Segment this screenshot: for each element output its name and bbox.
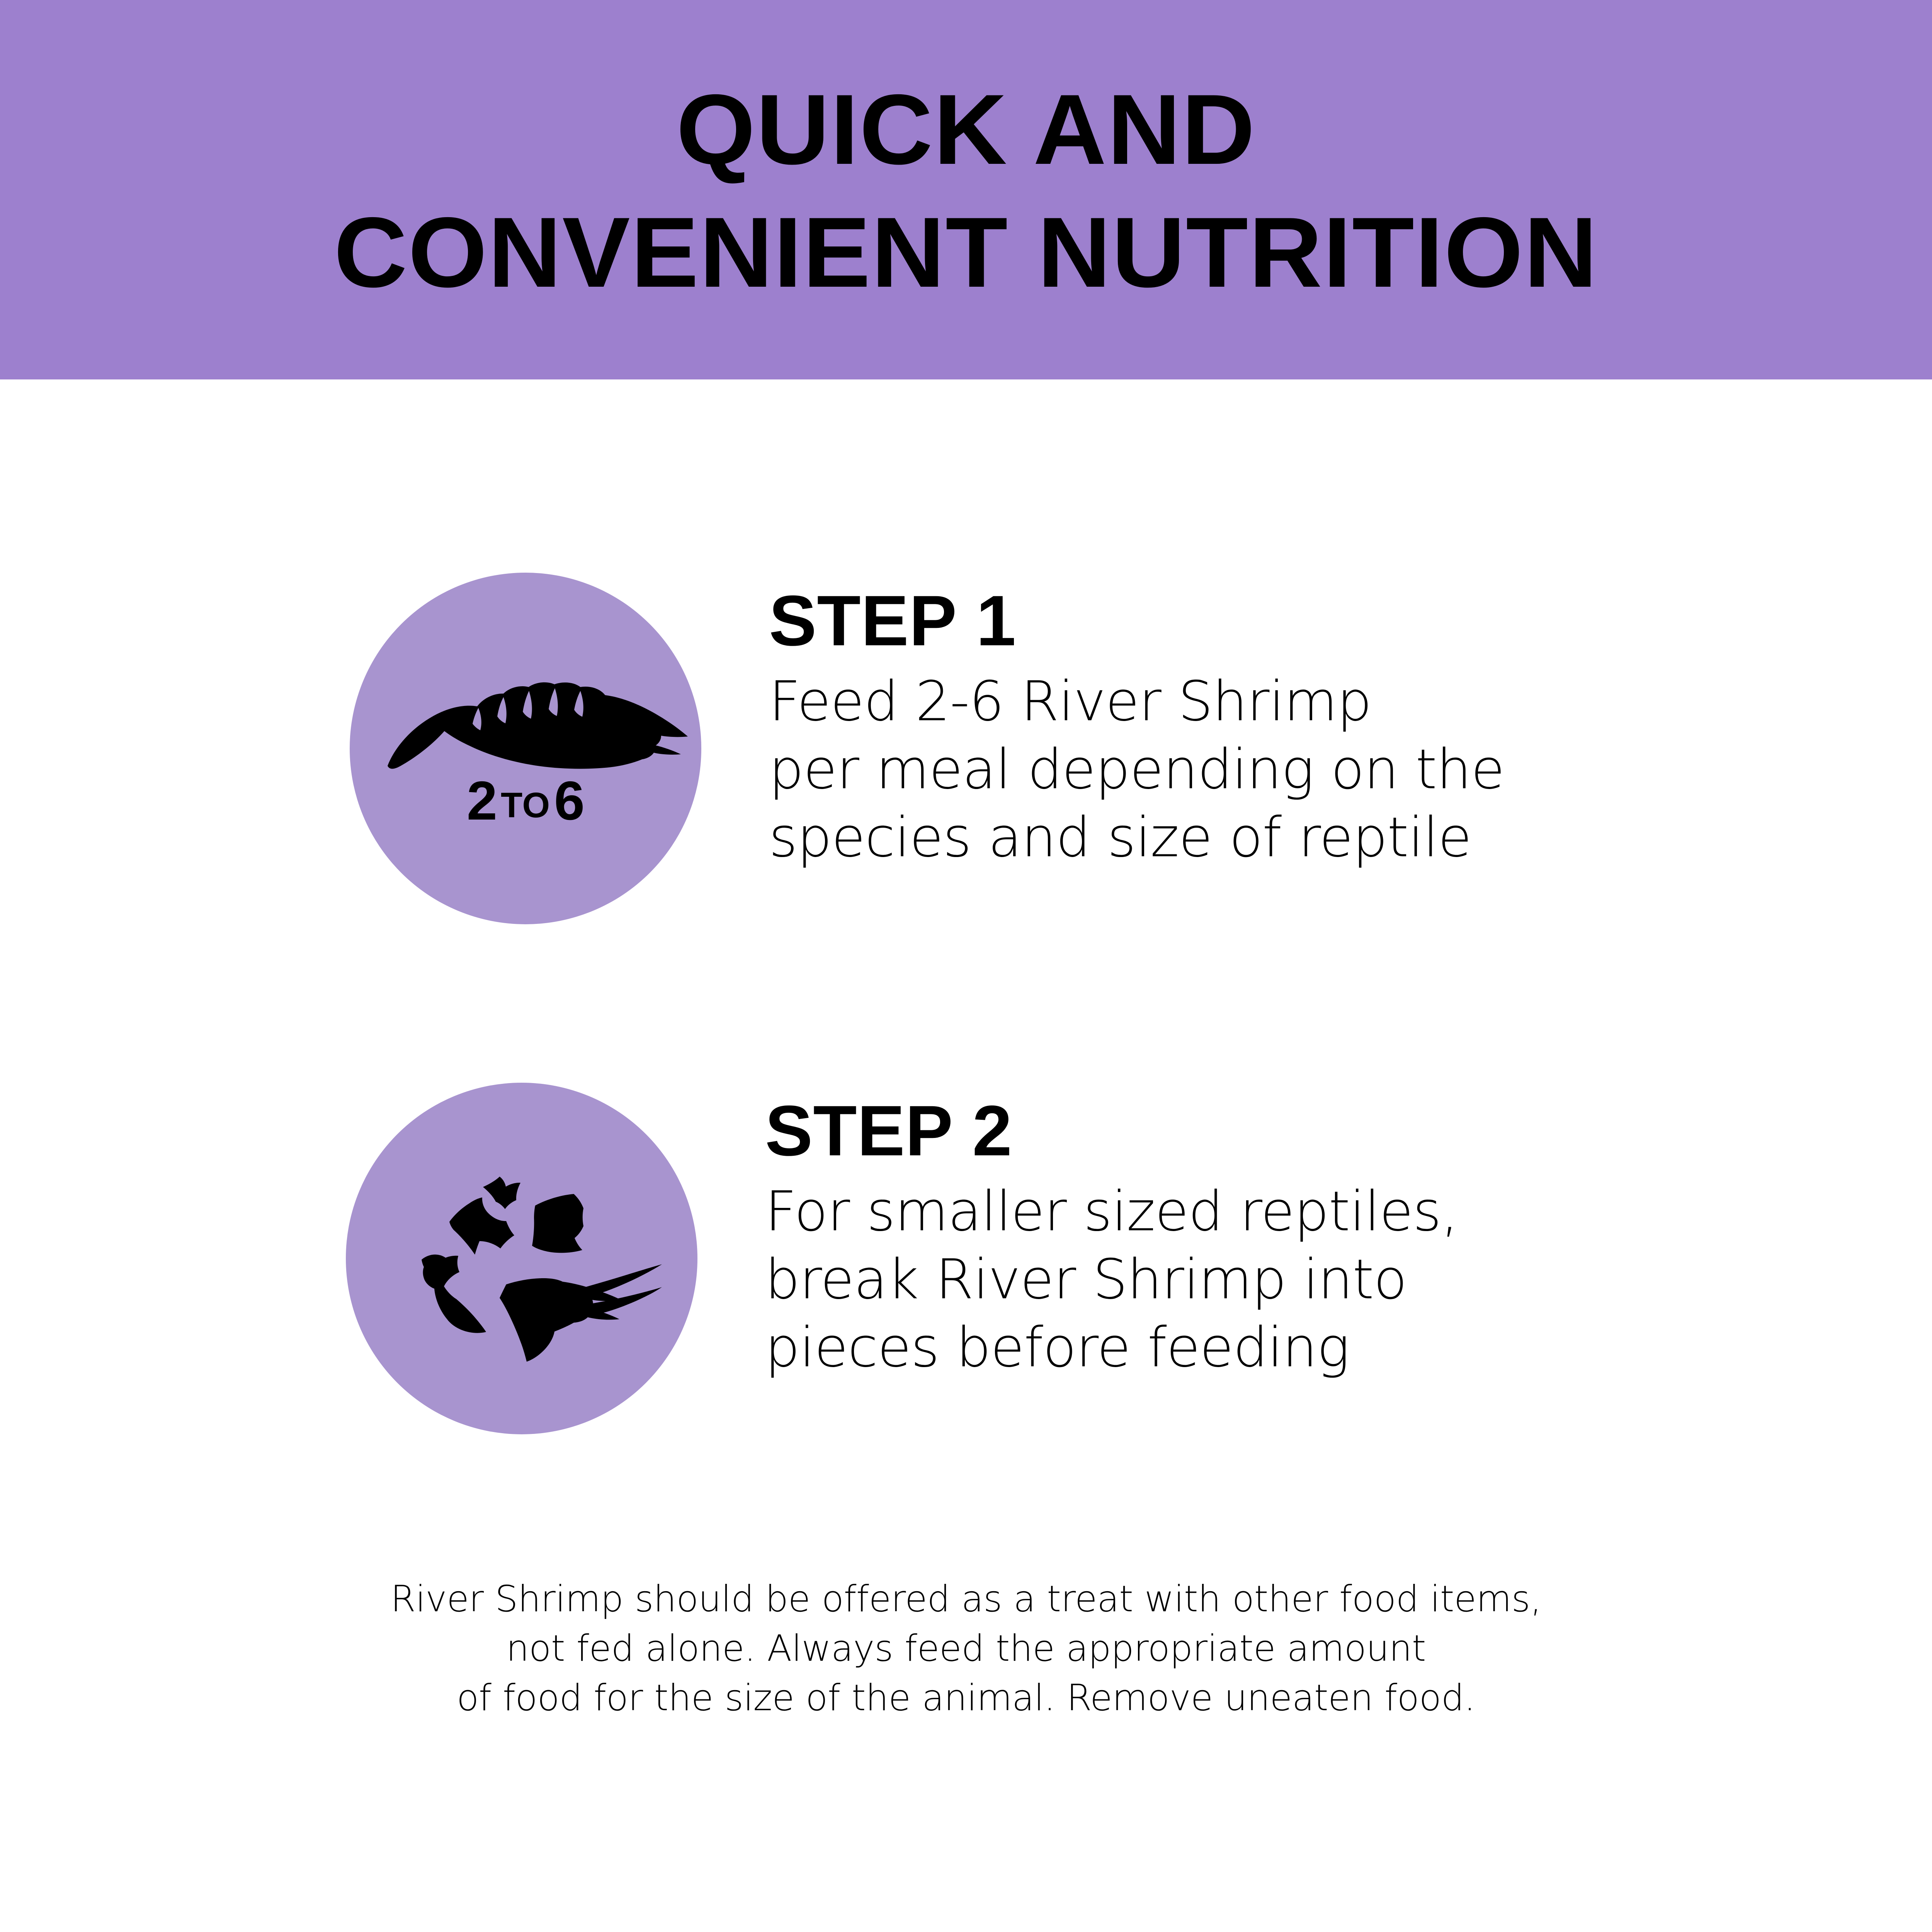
footer-disclaimer: River Shrimp should be offered as a trea… bbox=[0, 1575, 1932, 1723]
count-end: 6 bbox=[554, 770, 584, 832]
step-item-2: STEP 2 For smaller sized reptiles, break… bbox=[346, 1083, 1458, 1434]
step-1-body: STEP 1 Feed 2-6 River Shrimp per meal de… bbox=[769, 573, 1504, 872]
step-2-icon-circle bbox=[346, 1083, 697, 1434]
step-1-count-badge: 2TO6 bbox=[350, 774, 701, 835]
step-1-heading: STEP 1 bbox=[769, 585, 1504, 657]
step-2-body: STEP 2 For smaller sized reptiles, break… bbox=[765, 1083, 1458, 1382]
step-item-1: 2TO6 STEP 1 Feed 2-6 River Shrimp per me… bbox=[350, 573, 1504, 924]
count-connector: TO bbox=[497, 786, 554, 825]
step-1-text: Feed 2-6 River Shrimp per meal depending… bbox=[769, 668, 1504, 872]
header-band: QUICK AND CONVENIENT NUTRITION bbox=[0, 0, 1932, 379]
page-title: QUICK AND CONVENIENT NUTRITION bbox=[0, 0, 1932, 314]
step-2-text: For smaller sized reptiles, break River … bbox=[765, 1178, 1458, 1382]
broken-shrimp-pieces-icon bbox=[346, 1083, 697, 1434]
step-1-icon-circle: 2TO6 bbox=[350, 573, 701, 924]
count-start: 2 bbox=[467, 770, 497, 832]
shrimp-icon bbox=[350, 573, 701, 924]
step-2-heading: STEP 2 bbox=[765, 1095, 1458, 1167]
